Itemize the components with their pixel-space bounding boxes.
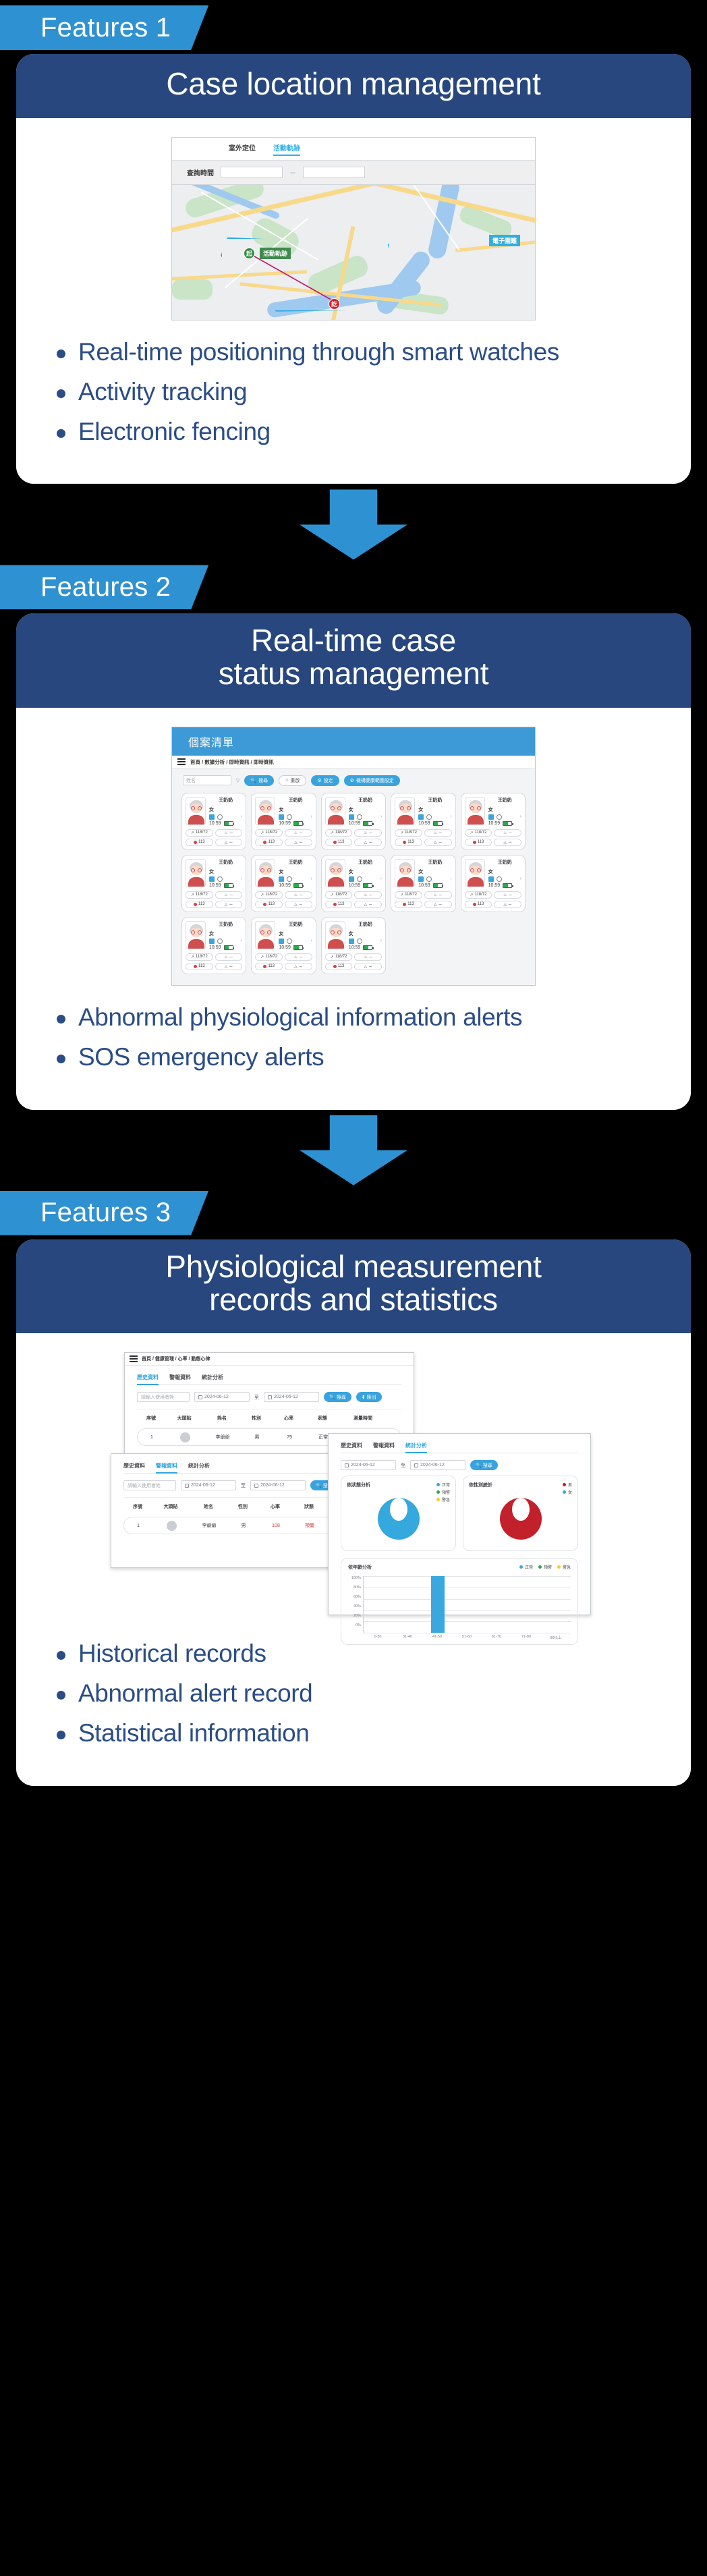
th-sex: 性別	[227, 1503, 258, 1510]
avatar	[325, 797, 345, 825]
gear-icon[interactable]	[287, 876, 292, 882]
map-canvas[interactable]: 電子圍籬 起 訖 活動軌跡	[172, 185, 535, 320]
bp-icon: ↗	[260, 893, 264, 897]
spo2-icon: △	[294, 902, 298, 907]
bp-icon: ↗	[191, 955, 194, 959]
case-status-row: 10:59	[209, 883, 242, 888]
battery-icon	[224, 883, 233, 888]
gear-icon[interactable]	[357, 939, 362, 944]
username-input[interactable]: 請輸入使用者姓	[137, 1392, 190, 1402]
case-card[interactable]: 王奶奶女›10:59↗118/72♨－113△－	[181, 793, 246, 850]
th-heart-rate[interactable]: 心率	[258, 1503, 292, 1510]
avatar	[180, 1432, 190, 1443]
case-card-info: 王奶奶女›10:59	[279, 921, 312, 950]
feature-block-2: Features 2 Real-time case status managem…	[0, 559, 707, 1109]
chart-icon[interactable]	[418, 876, 424, 882]
tab-alert-data[interactable]: 警報資料	[169, 1374, 191, 1381]
avatar	[255, 797, 275, 825]
th-sex: 性別	[241, 1415, 272, 1422]
vital-spo2: △－	[215, 901, 243, 908]
down-arrow-icon	[300, 489, 407, 559]
menu-collapse-icon[interactable]	[130, 1355, 138, 1362]
reset-button[interactable]: ○ 重啟	[279, 775, 306, 786]
chart-icon[interactable]	[279, 939, 284, 944]
case-status-row: 10:59	[279, 821, 312, 826]
case-card[interactable]: 王奶奶女›10:59↗118/72♨－113△－	[181, 855, 246, 912]
case-card-top: 王奶奶女›10:59	[186, 797, 242, 826]
vital-blood-pressure: ↗118/72	[186, 829, 213, 837]
tab-history-data[interactable]: 歷史資料	[341, 1442, 362, 1449]
date-from-input[interactable]: 2024-06-12	[194, 1392, 250, 1402]
case-card-icons: ›	[279, 939, 312, 944]
y-tick-label: 60%	[348, 1595, 363, 1604]
vital-spo2: △－	[354, 839, 382, 846]
case-card-icons: ›	[279, 876, 312, 882]
bullet-item: SOS emergency alerts	[54, 1043, 660, 1072]
plot-region	[363, 1576, 571, 1633]
tab-alert-data[interactable]: 警報資料	[156, 1462, 177, 1474]
breadcrumb-text: 首頁 / 健康管理 / 心率 / 動態心律	[142, 1355, 210, 1362]
map-filter-bar: 查詢時間 －	[172, 161, 535, 185]
case-status-row: 10:59	[279, 945, 312, 950]
legend-dot-normal	[519, 1565, 523, 1569]
case-card-icons: ›	[418, 876, 451, 882]
feature-3-body: 首頁 / 健康管理 / 心率 / 動態心律 歷史資料 警報資料 統計分析 請輸入…	[16, 1333, 691, 1786]
case-card-icons: ›	[418, 814, 451, 820]
th-name: 姓名	[203, 1415, 241, 1422]
th-heart-rate[interactable]: 心率	[272, 1415, 306, 1422]
vital-spo2: △－	[494, 839, 521, 846]
case-card[interactable]: 王奶奶女›10:59↗118/72♨－113△－	[391, 793, 455, 850]
date-to-value: 2024-06-12	[420, 1463, 445, 1467]
case-card-top: 王奶奶女›10:59	[255, 921, 312, 950]
tab-history-data[interactable]: 歷史資料	[123, 1462, 145, 1469]
chevron-right-icon[interactable]: ›	[380, 814, 382, 819]
heart-icon	[473, 841, 476, 844]
case-card-top: 王奶奶女›10:59	[325, 797, 382, 826]
chevron-right-icon[interactable]: ›	[520, 814, 521, 819]
date-to-input[interactable]: 2024-06-12	[410, 1460, 465, 1470]
menu-collapse-icon[interactable]	[177, 758, 186, 765]
tab-history-data[interactable]: 歷史資料	[137, 1374, 159, 1385]
case-sex: 女	[209, 806, 242, 813]
gear-icon[interactable]	[287, 939, 292, 944]
avatar	[255, 859, 275, 887]
date-to-input[interactable]	[303, 167, 365, 178]
case-list-toolbar: 姓名 ▽ 🔍 搜尋 ○ 重啟 ⚙ 設定	[172, 769, 535, 791]
case-time: 10:59	[418, 821, 430, 826]
age-bar-card: 依年齡分析 正常 預警 警急 100%80%60%40%20%0%	[341, 1558, 578, 1645]
case-card-info: 王奶奶女›10:59	[349, 797, 382, 826]
battery-icon	[363, 945, 372, 950]
date-from-input[interactable]: 2024-06-12	[341, 1460, 396, 1470]
avatar	[325, 921, 345, 949]
name-filter-input[interactable]: 姓名	[183, 775, 231, 785]
heart-icon	[473, 903, 476, 906]
arrow-connector-1	[0, 484, 707, 559]
vital-heart-rate: 113	[465, 901, 492, 908]
search-button[interactable]: 🔍 搜尋	[470, 1460, 498, 1470]
chevron-right-icon[interactable]: ›	[380, 876, 382, 881]
case-vitals: ↗118/72♨－113△－	[465, 891, 521, 908]
case-card-top: 王奶奶女›10:59	[255, 859, 312, 888]
records-tab-bar: 歷史資料 警報資料 統計分析	[137, 1374, 401, 1385]
table-header-row: 序號 大頭貼 姓名 性別 心率 狀態 測量時間	[137, 1409, 401, 1427]
vital-spo2: △－	[215, 839, 243, 846]
heart-icon	[194, 903, 197, 906]
case-status-row: 10:59	[279, 883, 312, 888]
chart-icon[interactable]	[209, 876, 215, 882]
gear-icon[interactable]	[217, 876, 223, 882]
case-time: 10:59	[209, 821, 221, 826]
date-to-value: 2024-06-12	[274, 1395, 298, 1399]
vital-spo2: △－	[285, 839, 312, 846]
gear-icon[interactable]	[217, 939, 223, 944]
feature-2-title-line2: status management	[36, 657, 671, 690]
vital-temperature: ♨－	[215, 829, 243, 837]
vital-blood-pressure: ↗118/72	[186, 953, 213, 961]
case-card-info: 王奶奶女›10:59	[349, 859, 382, 888]
gear-icon[interactable]	[287, 814, 292, 820]
feature-2-title-line1: Real-time case	[36, 624, 671, 657]
spo2-icon: △	[364, 840, 368, 845]
chevron-right-icon[interactable]: ›	[520, 876, 521, 881]
case-card[interactable]: 王奶奶女›10:59↗118/72♨－113△－	[251, 855, 316, 912]
spo2-icon: △	[294, 964, 298, 969]
battery-icon	[293, 821, 303, 826]
bp-icon: ↗	[191, 831, 194, 835]
y-tick-label: 100%	[348, 1576, 363, 1586]
case-card-top: 王奶奶女›10:59	[465, 797, 521, 826]
bp-icon: ↗	[331, 955, 334, 959]
chart-icon[interactable]	[418, 814, 424, 820]
gear-icon[interactable]	[497, 814, 502, 820]
case-card[interactable]: 王奶奶女›10:59↗118/72♨－113△－	[251, 917, 316, 974]
chevron-right-icon[interactable]: ›	[450, 814, 451, 819]
case-name: 王奶奶	[209, 797, 242, 804]
vital-heart-rate: 113	[325, 839, 353, 846]
chart-icon[interactable]	[349, 814, 354, 820]
chart-icon[interactable]	[209, 939, 215, 944]
case-card-info: 王奶奶女›10:59	[279, 797, 312, 826]
date-range-to-label: 至	[254, 1394, 259, 1401]
search-label: 搜尋	[483, 1462, 492, 1469]
date-from-value: 2024-06-12	[351, 1463, 375, 1467]
feature-2-body: 個案清單 首頁 / 數據分析 / 即時資訊 / 即時資訊 姓名 ▽ 🔍 搜尋	[16, 708, 691, 1110]
avatar	[395, 859, 415, 887]
chart-icon[interactable]	[279, 814, 284, 820]
case-time: 10:59	[349, 821, 361, 826]
date-from-input[interactable]: 2024-06-12	[181, 1480, 236, 1490]
status-donut-chart	[378, 1498, 420, 1540]
vital-temperature: ♨－	[494, 891, 521, 899]
gear-icon[interactable]	[357, 814, 362, 820]
case-list-screenshot: 個案清單 首頁 / 數據分析 / 即時資訊 / 即時資訊 姓名 ▽ 🔍 搜尋	[171, 727, 536, 986]
chart-icon[interactable]	[349, 939, 354, 944]
tab-statistics[interactable]: 統計分析	[188, 1462, 210, 1469]
stats-filter-row: 2024-06-12 至 2024-06-12 🔍 搜尋	[341, 1453, 578, 1476]
records-screenshot: 首頁 / 健康管理 / 心率 / 動態心律 歷史資料 警報資料 統計分析 請輸入…	[111, 1352, 596, 1622]
chart-icon[interactable]	[488, 814, 494, 820]
heart-icon	[263, 965, 266, 968]
battery-icon	[224, 945, 233, 950]
case-card[interactable]: 王奶奶女›10:59↗118/72♨－113△－	[321, 855, 386, 912]
cell-sex: 男	[242, 1434, 273, 1440]
health-range-label: 機構健康範圍設定	[356, 777, 394, 784]
breadcrumb: 首頁 / 健康管理 / 心率 / 動態心律	[125, 1353, 414, 1366]
chevron-right-icon[interactable]: ›	[241, 876, 242, 881]
case-card-icons: ›	[349, 876, 382, 882]
case-status-row: 10:59	[349, 945, 382, 950]
case-sex: 女	[209, 868, 242, 875]
vital-temperature: ♨－	[424, 891, 452, 899]
spo2-icon: △	[225, 840, 228, 845]
cell-avatar	[166, 1432, 204, 1443]
track-start-pin[interactable]: 起	[244, 248, 255, 259]
case-card[interactable]: 王奶奶女›10:59↗118/72♨－113△－	[321, 793, 386, 850]
records-screenshot-wrapper: 首頁 / 健康管理 / 心率 / 動態心律 歷史資料 警報資料 統計分析 請輸入…	[16, 1352, 691, 1622]
case-card-info: 王奶奶女›10:59	[418, 797, 451, 826]
tab-outdoor-positioning[interactable]: 室外定位	[229, 142, 256, 156]
case-vitals: ↗118/72♨－113△－	[255, 953, 312, 970]
case-card-top: 王奶奶女›10:59	[325, 859, 382, 888]
heart-icon	[403, 903, 406, 906]
map-screenshot-wrapper: 室外定位 活動軌跡 查詢時間 －	[16, 137, 691, 320]
spo2-icon: △	[434, 902, 437, 907]
case-vitals: ↗118/72♨－113△－	[186, 953, 242, 970]
search-icon: 🔍	[329, 1395, 335, 1400]
heart-icon	[333, 903, 337, 906]
case-name: 王奶奶	[418, 797, 451, 804]
case-list-header: 個案清單	[172, 727, 535, 756]
thermometer-icon: ♨	[364, 893, 367, 897]
battery-icon	[433, 883, 443, 888]
case-card-icons: ›	[349, 939, 382, 944]
spo2-icon: △	[364, 902, 368, 907]
legend-label: 女	[568, 1489, 572, 1495]
chart-icon[interactable]	[279, 876, 284, 882]
username-input[interactable]: 請輸入使用者姓	[123, 1480, 176, 1490]
bp-icon: ↗	[260, 955, 264, 959]
bp-icon: ↗	[400, 893, 403, 897]
feature-3-title: Physiological measurement records and st…	[16, 1239, 691, 1334]
export-button[interactable]: ⬇ 匯出	[356, 1392, 382, 1402]
thermometer-icon: ♨	[503, 831, 507, 835]
case-status-row: 10:59	[209, 945, 242, 950]
case-card-icons: ›	[279, 814, 312, 820]
bp-icon: ↗	[331, 831, 334, 835]
chevron-right-icon[interactable]: ›	[241, 939, 242, 943]
avatar	[395, 797, 415, 825]
tab-activity-track[interactable]: 活動軌跡	[273, 142, 300, 156]
bar-slot	[364, 1576, 393, 1633]
bp-icon: ↗	[470, 893, 473, 897]
case-vitals: ↗118/72♨－113△－	[325, 829, 382, 846]
case-card-top: 王奶奶女›10:59	[395, 797, 451, 826]
breadcrumb: 首頁 / 數據分析 / 即時資訊 / 即時資訊	[172, 756, 535, 769]
th-avatar: 大頭貼	[152, 1503, 190, 1510]
cell-sex: 男	[228, 1522, 259, 1529]
legend-label: 警急	[442, 1496, 450, 1503]
spo2-icon: △	[503, 840, 507, 845]
bar[interactable]	[431, 1576, 445, 1633]
y-tick-label: 0%	[348, 1623, 363, 1633]
cell-name: 李爺爺	[204, 1434, 242, 1440]
vital-spo2: △－	[424, 839, 452, 846]
case-card-top: 王奶奶女›10:59	[465, 859, 521, 888]
gear-icon[interactable]	[217, 814, 223, 820]
spo2-icon: △	[225, 964, 228, 969]
case-card-icons: ›	[209, 814, 242, 820]
case-name: 王奶奶	[279, 921, 312, 928]
case-card-top: 王奶奶女›10:59	[255, 797, 312, 826]
case-status-row: 10:59	[349, 821, 382, 826]
feature-2-title: Real-time case status management	[16, 613, 691, 708]
electronic-fence-label: 電子圍籬	[489, 235, 520, 246]
case-card-icons: ›	[349, 814, 382, 820]
case-card-grid: 王奶奶女›10:59↗118/72♨－113△－王奶奶女›10:59↗118/7…	[172, 791, 535, 985]
case-card[interactable]: 王奶奶女›10:59↗118/72♨－113△－	[251, 793, 316, 850]
gridline	[364, 1633, 571, 1633]
reset-label: 重啟	[290, 777, 300, 784]
search-icon: 🔍	[250, 778, 256, 783]
filter-icon[interactable]: ▽	[236, 778, 239, 783]
avatar	[186, 921, 206, 949]
case-card[interactable]: 王奶奶女›10:59↗118/72♨－113△－	[461, 855, 526, 912]
gear-icon: ⚙	[350, 778, 354, 783]
chart-icon[interactable]	[488, 876, 494, 882]
feature-3-title-line1: Physiological measurement	[36, 1250, 671, 1283]
avatar	[167, 1521, 177, 1531]
feature-3-title-line2: records and statistics	[36, 1283, 671, 1316]
thermometer-icon: ♨	[364, 955, 367, 959]
case-time: 10:59	[418, 883, 430, 888]
vital-blood-pressure: ↗118/72	[325, 891, 353, 899]
case-vitals: ↗118/72♨－113△－	[395, 891, 451, 908]
gear-icon[interactable]	[426, 814, 432, 820]
vital-temperature: ♨－	[285, 953, 312, 961]
calendar-icon	[345, 1463, 349, 1467]
track-end-pin[interactable]: 訖	[329, 298, 340, 310]
gear-icon[interactable]	[357, 876, 362, 882]
vital-spo2: △－	[285, 901, 312, 908]
avatar	[186, 797, 206, 825]
case-sex: 女	[279, 868, 312, 875]
tab-alert-data[interactable]: 警報資料	[373, 1442, 395, 1449]
y-tick-label: 40%	[348, 1604, 363, 1614]
case-name: 王奶奶	[349, 859, 382, 866]
case-name: 王奶奶	[488, 859, 521, 866]
tab-statistics[interactable]: 統計分析	[405, 1442, 427, 1453]
settings-button[interactable]: ⚙ 設定	[311, 775, 339, 786]
case-status-row: 10:59	[488, 821, 521, 826]
tag-wrapper-3: Features 3	[0, 1185, 707, 1239]
th-status[interactable]: 狀態	[292, 1503, 326, 1510]
chevron-right-icon[interactable]: ›	[310, 814, 312, 819]
search-button[interactable]: 🔍 搜尋	[324, 1392, 351, 1402]
legend-dot-critical	[557, 1565, 561, 1569]
date-from-input[interactable]	[221, 167, 283, 178]
bullet-item: Real-time positioning through smart watc…	[54, 338, 660, 367]
vital-blood-pressure: ↗118/72	[325, 829, 353, 837]
battery-icon	[433, 821, 443, 826]
case-card-info: 王奶奶女›10:59	[418, 859, 451, 888]
bar-slot	[423, 1576, 453, 1633]
chevron-right-icon[interactable]: ›	[380, 939, 382, 943]
chevron-right-icon[interactable]: ›	[241, 814, 242, 819]
date-from-value: 2024-06-12	[191, 1483, 215, 1488]
date-range-to-label: 至	[241, 1482, 246, 1489]
spo2-icon: △	[294, 840, 298, 845]
feature-3-bullets: Historical records Abnormal alert record…	[16, 1622, 691, 1748]
chart-icon[interactable]	[209, 814, 215, 820]
vital-spo2: △－	[215, 963, 243, 970]
legend-dot-male	[563, 1483, 566, 1486]
case-sex: 女	[349, 806, 382, 813]
th-time[interactable]: 測量時間	[339, 1415, 387, 1422]
legend-dot-critical	[436, 1498, 440, 1501]
thermometer-icon: ♨	[224, 893, 227, 897]
vital-blood-pressure: ↗118/72	[465, 891, 492, 899]
gear-icon[interactable]	[426, 876, 432, 882]
case-time: 10:59	[279, 883, 291, 888]
chevron-right-icon[interactable]: ›	[310, 939, 312, 943]
battery-icon	[363, 821, 372, 826]
avatar	[325, 859, 345, 887]
status-donut-card: 依狀態分析 正常 預警 警急	[341, 1476, 456, 1551]
vital-heart-rate: 113	[395, 901, 422, 908]
search-button[interactable]: 🔍 搜尋	[244, 775, 274, 786]
legend-dot-female	[563, 1490, 566, 1494]
vital-spo2: △－	[354, 901, 382, 908]
legend-label: 正常	[525, 1564, 533, 1570]
case-sex: 女	[349, 930, 382, 937]
case-time: 10:59	[349, 883, 361, 888]
tab-statistics[interactable]: 統計分析	[202, 1374, 223, 1381]
chart-icon[interactable]	[349, 876, 354, 882]
vital-heart-rate: 113	[186, 839, 213, 846]
date-to-input[interactable]: 2024-06-12	[250, 1480, 306, 1490]
search-label: 搜尋	[258, 777, 268, 784]
case-name: 王奶奶	[209, 859, 242, 866]
case-card[interactable]: 王奶奶女›10:59↗118/72♨－113△－	[391, 855, 455, 912]
date-to-input[interactable]: 2024-06-12	[264, 1392, 319, 1402]
heart-icon	[194, 841, 197, 844]
case-card[interactable]: 王奶奶女›10:59↗118/72♨－113△－	[181, 917, 246, 974]
case-status-row: 10:59	[418, 821, 451, 826]
chevron-right-icon[interactable]: ›	[450, 876, 451, 881]
chevron-right-icon[interactable]: ›	[310, 876, 312, 881]
case-card-info: 王奶奶女›10:59	[349, 921, 382, 950]
feature-1-panel: Case location management 室外定位 活動軌跡 查詢時間 …	[16, 54, 691, 484]
case-name: 王奶奶	[488, 797, 521, 804]
th-status[interactable]: 狀態	[306, 1415, 339, 1422]
bullet-item: Statistical information	[54, 1719, 660, 1748]
heart-icon	[194, 965, 197, 968]
case-card[interactable]: 王奶奶女›10:59↗118/72♨－113△－	[461, 793, 526, 850]
bp-icon: ↗	[400, 831, 403, 835]
vital-temperature: ♨－	[354, 891, 382, 899]
bullet-item: Abnormal alert record	[54, 1679, 660, 1708]
battery-icon	[224, 821, 233, 826]
export-label: 匯出	[367, 1394, 376, 1401]
case-card[interactable]: 王奶奶女›10:59↗118/72♨－113△－	[321, 917, 386, 974]
avatar	[186, 859, 206, 887]
gear-icon[interactable]	[497, 876, 502, 882]
health-range-settings-button[interactable]: ⚙ 機構健康範圍設定	[344, 775, 400, 786]
case-card-info: 王奶奶女›10:59	[279, 859, 312, 888]
feature-3-panel: Physiological measurement records and st…	[16, 1239, 691, 1786]
